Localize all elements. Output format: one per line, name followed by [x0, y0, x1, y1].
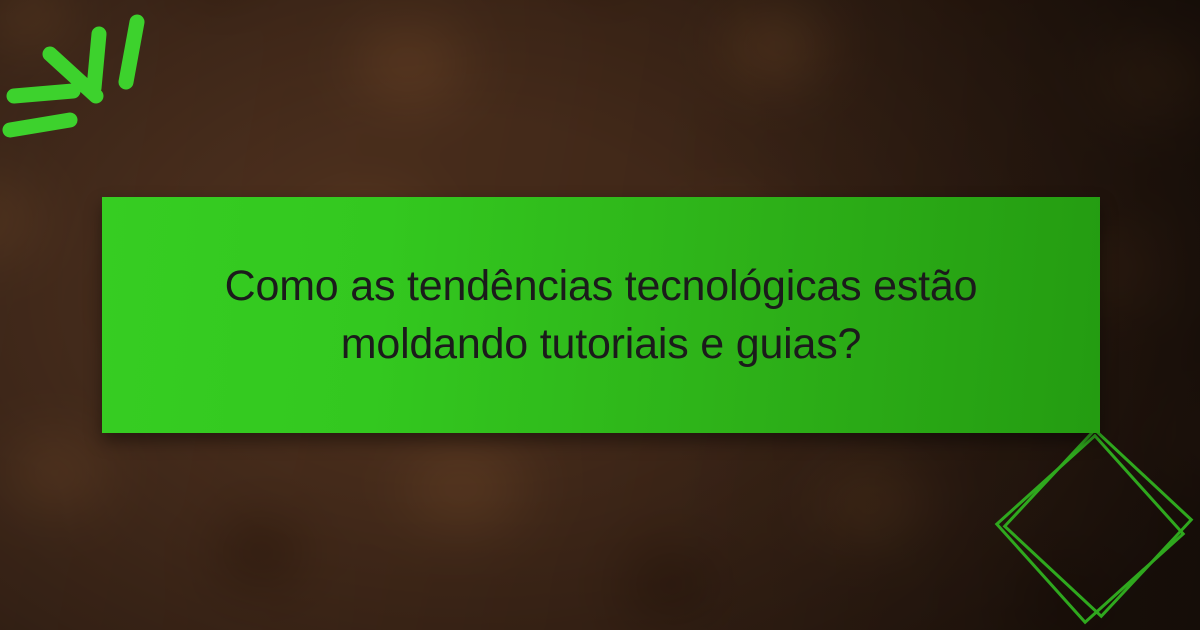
rotated-squares-icon: [980, 415, 1200, 630]
headline-text: Como as tendências tecnológicas estão mo…: [211, 257, 991, 373]
sparkle-burst-icon: [0, 0, 180, 160]
rotated-squares-decoration: [980, 415, 1200, 630]
headline-banner: Como as tendências tecnológicas estão mo…: [102, 197, 1100, 433]
social-card: Como as tendências tecnológicas estão mo…: [0, 0, 1200, 630]
sparkle-burst-decoration: [0, 0, 180, 160]
